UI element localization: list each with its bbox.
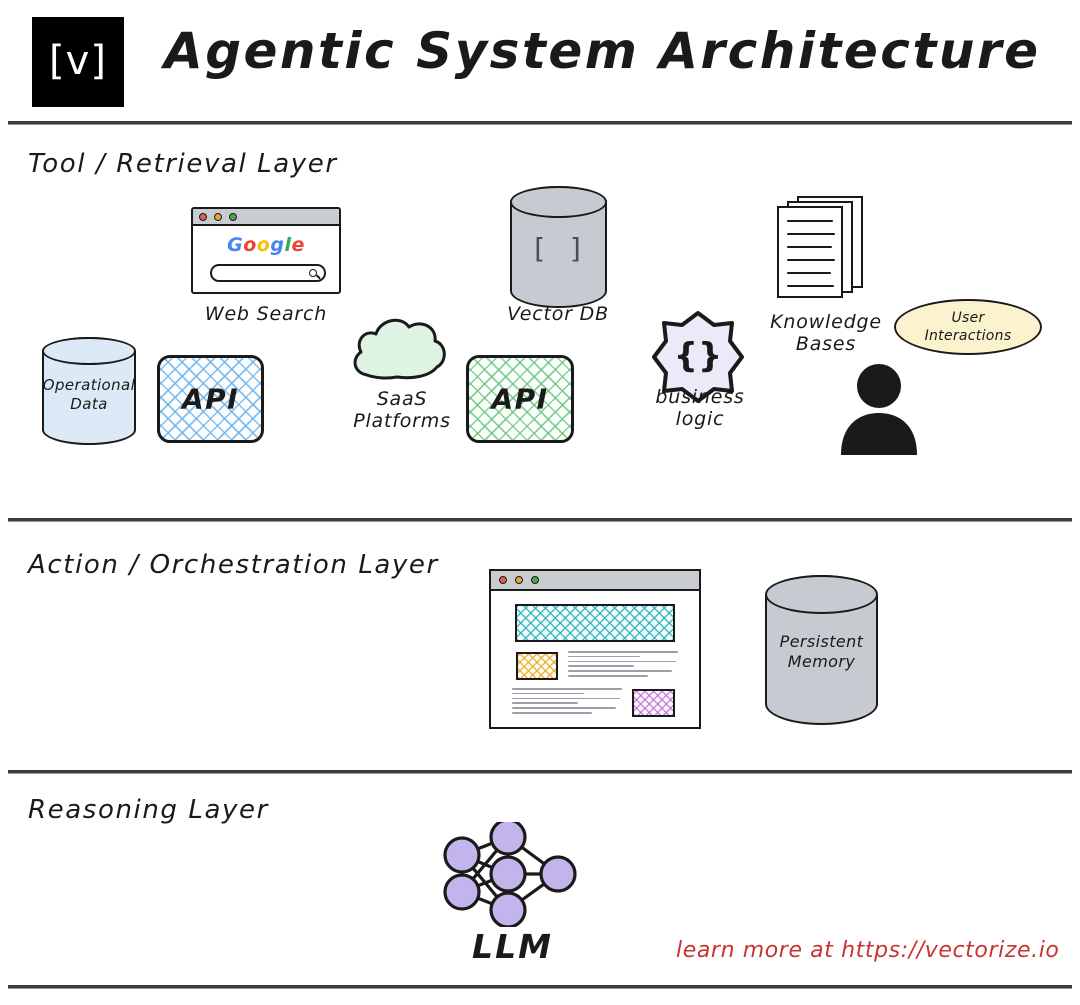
google-letter-2: o bbox=[257, 234, 271, 256]
business-logic-glyph: {} bbox=[648, 336, 748, 376]
caption-saas-platforms: SaaS Platforms bbox=[337, 388, 467, 433]
cylinder-top bbox=[42, 337, 136, 365]
caption-vector-db: Vector DB bbox=[478, 303, 638, 325]
section-divider-top bbox=[8, 121, 1072, 125]
caption-knowledge-bases: Knowledge Bases bbox=[756, 311, 896, 356]
browser-titlebar bbox=[193, 209, 339, 226]
google-logo: Google bbox=[193, 234, 339, 256]
window-close-dot-icon[interactable] bbox=[499, 576, 507, 584]
google-letter-5: e bbox=[291, 234, 304, 256]
user-avatar-icon bbox=[833, 363, 925, 455]
neural-network-svg bbox=[440, 822, 585, 927]
section-divider-action bbox=[8, 518, 1072, 522]
google-letter-1: o bbox=[243, 234, 257, 256]
cylinder-top bbox=[510, 186, 607, 218]
persistent-memory-label: Persistent Memory bbox=[765, 632, 878, 672]
api-box-green: API bbox=[466, 355, 574, 443]
speech-line-1: User bbox=[951, 310, 984, 326]
window-close-dot-icon[interactable] bbox=[199, 213, 207, 221]
speech-line-2: Interactions bbox=[925, 328, 1012, 344]
google-search-input[interactable] bbox=[210, 264, 326, 282]
persistent-memory-cylinder-icon: Persistent Memory bbox=[765, 575, 878, 725]
label-line-1: Operational bbox=[43, 376, 135, 394]
vectorize-logo-icon: [v] bbox=[32, 17, 124, 107]
user-interactions-speech-bubble: User Interactions bbox=[894, 299, 1042, 355]
caption-llm: LLM bbox=[440, 928, 585, 967]
section-divider-reasoning bbox=[8, 770, 1072, 774]
window-maximize-dot-icon[interactable] bbox=[229, 213, 237, 221]
vectorize-link[interactable]: learn more at https://vectorize.io bbox=[676, 938, 1059, 963]
caption-web-search: Web Search bbox=[186, 303, 346, 325]
label-line-2: Data bbox=[70, 395, 107, 413]
window-minimize-dot-icon[interactable] bbox=[214, 213, 222, 221]
saas-platforms-cloud-icon bbox=[349, 309, 453, 382]
section-heading-tool-retrieval: Tool / Retrieval Layer bbox=[28, 149, 338, 179]
api-label: API bbox=[469, 383, 571, 416]
caption-line-1: business bbox=[655, 386, 744, 408]
section-heading-reasoning: Reasoning Layer bbox=[28, 795, 269, 825]
llm-neural-network-icon bbox=[440, 822, 585, 927]
caption-line-2: logic bbox=[676, 408, 725, 430]
content-box-purple bbox=[632, 689, 675, 717]
operational-data-cylinder-icon: Operational Data bbox=[42, 337, 136, 445]
operational-data-label: Operational Data bbox=[42, 376, 136, 414]
caption-line-2: Platforms bbox=[353, 410, 451, 432]
section-heading-action-orchestration: Action / Orchestration Layer bbox=[28, 550, 439, 580]
logo-glyph: [v] bbox=[49, 41, 107, 81]
cloud-svg bbox=[349, 309, 453, 382]
avatar-svg bbox=[833, 363, 925, 455]
google-letter-0: G bbox=[227, 234, 243, 256]
api-box-blue: API bbox=[157, 355, 264, 443]
page-header: [v] Agentic System Architecture bbox=[0, 0, 1080, 121]
document-page-front bbox=[777, 206, 843, 298]
section-divider-bottom bbox=[8, 985, 1072, 989]
caption-line-2: Bases bbox=[796, 333, 856, 355]
window-minimize-dot-icon[interactable] bbox=[515, 576, 523, 584]
content-banner-teal bbox=[515, 604, 675, 642]
caption-line-1: Knowledge bbox=[770, 311, 882, 333]
browser-titlebar bbox=[491, 571, 699, 591]
knowledge-bases-documents-icon bbox=[775, 196, 875, 306]
lorem-text-block-1 bbox=[568, 651, 680, 680]
label-line-2: Memory bbox=[788, 652, 855, 671]
content-box-yellow bbox=[516, 652, 558, 680]
cylinder-top bbox=[765, 575, 878, 614]
caption-line-1: SaaS bbox=[377, 388, 428, 410]
api-label: API bbox=[160, 383, 261, 416]
web-search-browser-window[interactable]: Google bbox=[191, 207, 341, 294]
google-letter-3: g bbox=[270, 234, 284, 256]
label-line-1: Persistent bbox=[780, 632, 864, 651]
lorem-text-block-2 bbox=[512, 688, 624, 717]
vector-db-glyph: [ ] bbox=[510, 232, 607, 265]
page-title: Agentic System Architecture bbox=[164, 22, 1041, 80]
search-icon bbox=[309, 269, 317, 277]
caption-business-logic: business logic bbox=[630, 386, 770, 431]
window-maximize-dot-icon[interactable] bbox=[531, 576, 539, 584]
vector-db-cylinder-icon: [ ] bbox=[510, 186, 607, 308]
orchestration-browser-window[interactable] bbox=[489, 569, 701, 729]
speech-bubble-text: User Interactions bbox=[896, 309, 1040, 345]
